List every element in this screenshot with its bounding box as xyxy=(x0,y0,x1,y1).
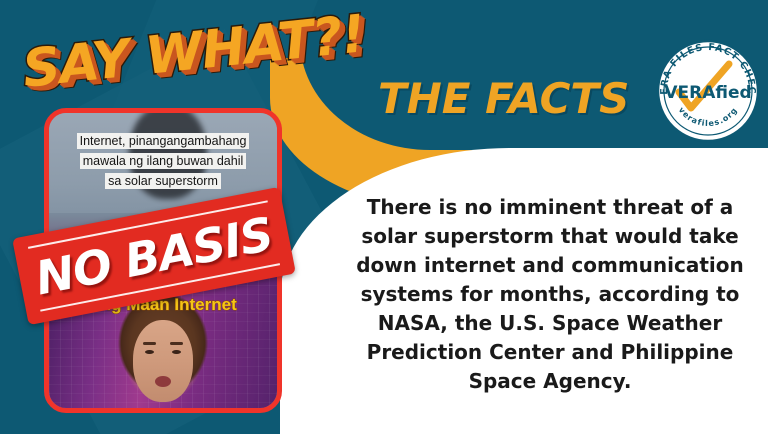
claim-caption-line-1: Internet, pinangangambahang xyxy=(80,133,247,149)
claim-caption-line-3: sa solar superstorm xyxy=(108,173,218,189)
claim-caption-line-2: mawala ng ilang buwan dahil xyxy=(83,153,244,169)
news-anchor-brow-left xyxy=(143,342,156,345)
news-anchor-eye-right xyxy=(172,350,181,354)
news-anchor-mouth xyxy=(155,376,171,387)
news-anchor-face xyxy=(133,320,193,402)
news-anchor-brow-right xyxy=(170,342,183,345)
claim-caption: Internet, pinangangambahang mawala ng il… xyxy=(55,131,271,191)
seal-center-label: VERAfied xyxy=(664,83,751,103)
news-anchor-eye-left xyxy=(145,350,154,354)
the-facts-heading: THE FACTS xyxy=(378,74,629,123)
the-facts-body: There is no imminent threat of a solar s… xyxy=(352,193,748,396)
fact-check-poster: SAY WHAT?! Internet, pinangangambahang m… xyxy=(0,0,768,434)
verafied-seal: VERA FILES FACT CHECK verafiles.org VERA… xyxy=(655,38,761,144)
